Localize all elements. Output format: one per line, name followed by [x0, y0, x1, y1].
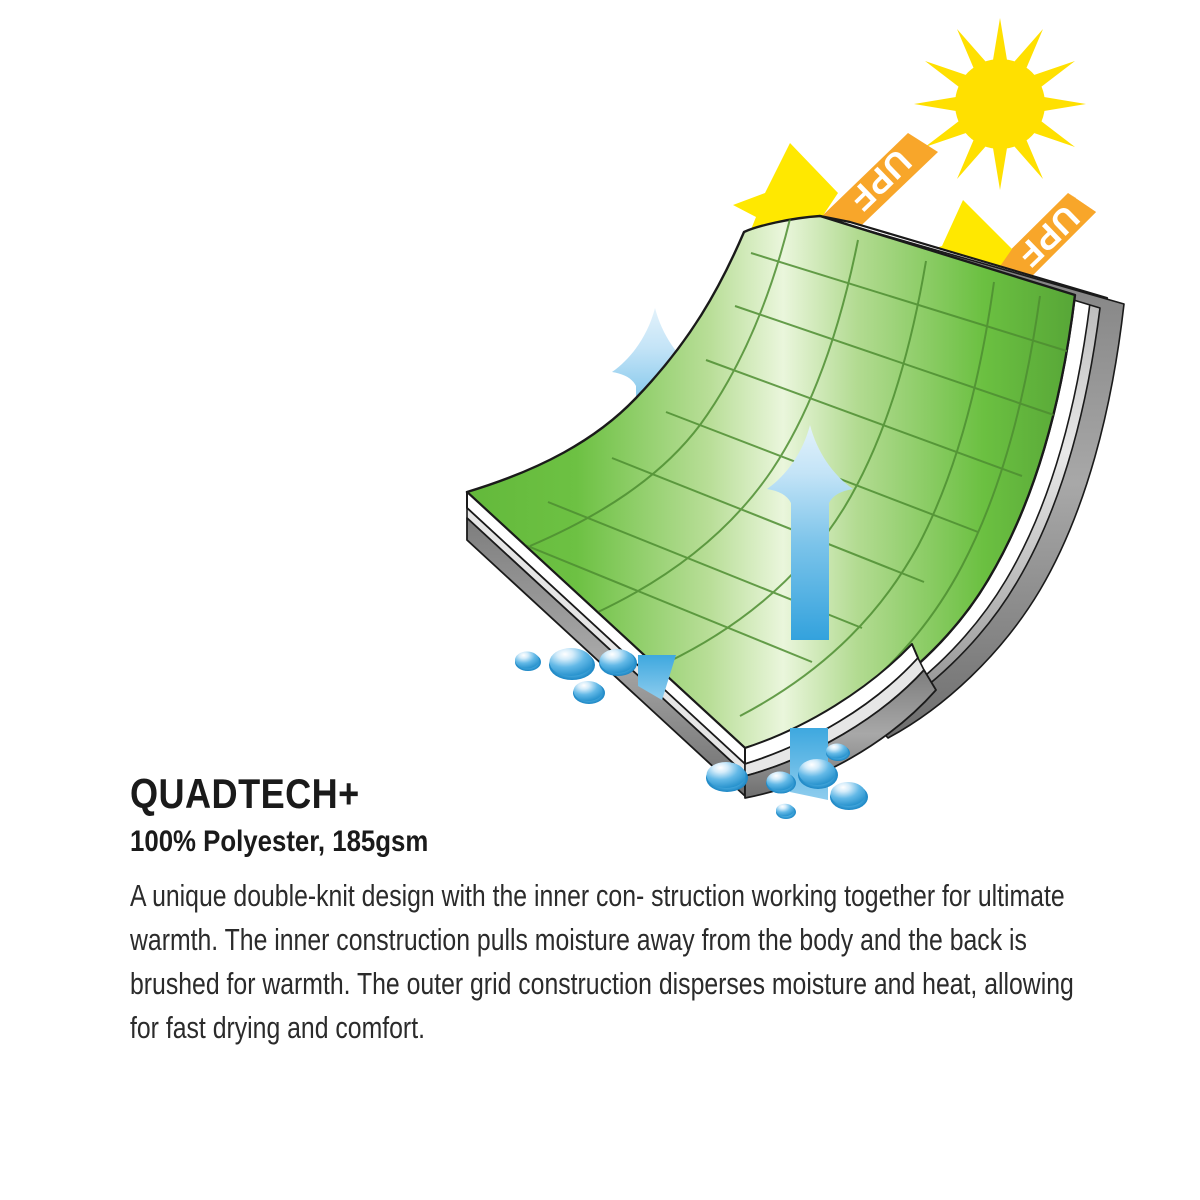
water-droplet [549, 648, 595, 680]
water-droplet [515, 652, 541, 672]
fabric-description: A unique double-knit design with the inn… [130, 874, 1098, 1050]
sun-core [955, 59, 1045, 149]
fabric-spec-subtitle: 100% Polyester, 185gsm [130, 824, 964, 860]
illustration-page: UPF UPF [0, 0, 1200, 1200]
water-droplet [573, 681, 605, 704]
caption-block: QUADTECH+ 100% Polyester, 185gsm A uniqu… [130, 772, 1100, 1050]
page-title: QUADTECH+ [130, 772, 964, 816]
sun-icon [914, 18, 1086, 190]
